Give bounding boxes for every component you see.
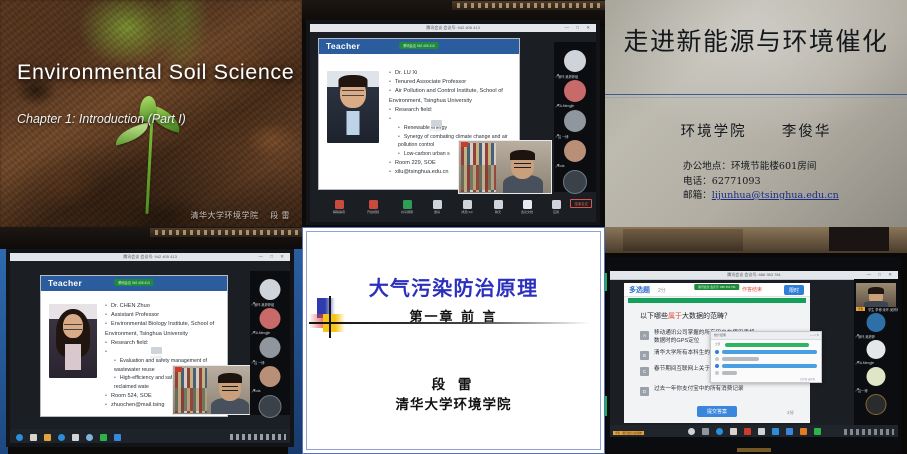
- participant-name: TA-Mengjie: [254, 331, 270, 335]
- list-item: Renewable energy: [398, 124, 515, 133]
- divider: [605, 94, 907, 95]
- avatar[interactable]: [260, 279, 281, 300]
- windows-taskbar[interactable]: 学生 - 腾讯会议(多媒体): [610, 425, 898, 437]
- author-org: 环境学院: [681, 124, 747, 140]
- background-object: [623, 229, 743, 251]
- edge-icon[interactable]: [716, 428, 723, 435]
- list-item: Air Pollution and Control Institute, Sch…: [389, 87, 515, 105]
- list-item: Research field:: [105, 339, 223, 348]
- panel-teacher-chen-zhuo-meeting: 腾讯会议 会议号: 942 405 413 — □ ✕ Teacher 腾讯会议…: [0, 227, 302, 454]
- monitor-bezel: 腾讯会议 会议号: 942 405 413 — □ ✕ Teacher 腾讯会议…: [6, 249, 294, 447]
- panel-new-energy-slide: 走进新能源与环境催化 环境学院 李俊华 办公地点：环境节能楼601房间 电话：6…: [605, 0, 907, 227]
- deco-vertical-line: [329, 296, 331, 338]
- question-highlight: 属于: [668, 313, 682, 320]
- participant-name: 学生 李博 深环-吴婷婷组: [868, 307, 898, 312]
- participant-name: TA-Mengjie: [858, 361, 874, 365]
- participant-list[interactable]: 学生 学生 李博 深环-吴婷婷组 🎤 深环-吴婷婷 🎤 TA-Mengjie 🎤…: [854, 279, 898, 427]
- divider-secondary: [605, 97, 907, 98]
- window-title: 腾讯会议 会议号: 942 405 413: [123, 253, 177, 261]
- system-tray[interactable]: [230, 434, 286, 440]
- office-icon[interactable]: [800, 428, 807, 435]
- toolbar-item-share[interactable]: 共享屏幕: [394, 200, 420, 214]
- quiz-timer-button[interactable]: 限时: [784, 285, 804, 295]
- browser-icon[interactable]: [772, 428, 779, 435]
- window-controls[interactable]: — □ ✕: [259, 254, 288, 260]
- start-icon[interactable]: [688, 428, 695, 435]
- phone-line: 电话：62771093: [683, 175, 839, 190]
- footer-author: 段 雷: [270, 211, 290, 220]
- toolbar-label: 解除静音: [333, 210, 345, 214]
- email-link[interactable]: lijunhua@tsinghua.edu.cn: [712, 190, 839, 201]
- toolbar-label: 邀请: [434, 210, 440, 214]
- camera-muted-icon: [369, 200, 378, 209]
- participant-list[interactable]: 🎤 深环-吴婷婷组 🎤 TA-Mengjie 🎤 吕 一博 🎤 Eula: [554, 42, 596, 192]
- participant-name: 深环-吴婷婷组: [254, 302, 274, 307]
- deck-header-title: Teacher: [48, 278, 82, 288]
- slide-inner-border: [306, 231, 601, 450]
- quiz-stop-label[interactable]: 作答结束: [742, 286, 762, 293]
- windows-taskbar[interactable]: [10, 429, 290, 443]
- self-video-tile[interactable]: [458, 140, 552, 194]
- popup-row-label: 全部: [715, 342, 720, 346]
- popup-window-controls[interactable]: — □ ✕: [810, 332, 819, 339]
- phone-value: 62771093: [712, 176, 761, 187]
- slide-title: 走进新能源与环境催化: [605, 22, 907, 58]
- invite-icon: [433, 200, 442, 209]
- glasses-icon: [64, 324, 82, 330]
- toolbar-item-documents[interactable]: 会议文档: [514, 200, 540, 214]
- avatar[interactable]: [260, 337, 281, 358]
- participant-name: 吕一博: [858, 388, 868, 393]
- participant-name: 吕 一博: [254, 360, 264, 365]
- system-tray[interactable]: [844, 429, 894, 435]
- taskbar-meeting-label[interactable]: 学生 - 腾讯会议(多媒体): [613, 431, 644, 435]
- bookshelf-background-2: [461, 165, 496, 190]
- toolbar-item-apps[interactable]: 应用: [544, 200, 568, 214]
- slide-title: Environmental Soil Science: [17, 60, 294, 85]
- quiz-points: 2分: [658, 287, 666, 294]
- slide-author: 段 雷: [303, 373, 604, 393]
- red-book: [175, 367, 182, 372]
- popup-title: 统计结果: [714, 332, 726, 339]
- monitor-bezel: 腾讯会议 会议号: 886 353 781 — □ ✕ 多选题 2分 作答结束 …: [607, 257, 901, 453]
- popup-dot-d[interactable]: [715, 371, 719, 375]
- toolbar-item-participants[interactable]: 成员(14): [454, 200, 480, 214]
- slide-org: 清华大学环境学院: [303, 393, 604, 413]
- folder-icon[interactable]: [730, 428, 737, 435]
- avatar[interactable]: [866, 394, 887, 415]
- document-icon: [523, 200, 532, 209]
- toolbar-label: 应用: [553, 210, 559, 214]
- participant-list[interactable]: 🎤 深环-吴婷婷组 🎤 TA-Mengjie 🎤 吕 一博 🎤 Eula: [250, 271, 290, 415]
- slide-footer: 清华大学环境学院 段 雷: [182, 210, 290, 221]
- search-icon[interactable]: [702, 428, 709, 435]
- headshot-shirt: [347, 111, 360, 135]
- popup-bar-all: [725, 343, 809, 347]
- screen: 腾讯会议 会议号: 942 405 413 — □ ✕ Teacher 腾讯会议…: [10, 253, 290, 443]
- bookshelf-background-2: [175, 388, 207, 411]
- meeting-toolbar[interactable]: 解除静音 开启视频 共享屏幕 邀请: [310, 196, 596, 222]
- apps-icon: [552, 200, 561, 209]
- share-screen-icon: [403, 200, 412, 209]
- toolbar-item-chat[interactable]: 聊天: [486, 200, 510, 214]
- meeting-icon[interactable]: [114, 434, 121, 441]
- participant-name: Eula: [254, 389, 260, 393]
- toolbar-item-video[interactable]: 开启视频: [360, 200, 386, 214]
- share-screen-label: 共享屏幕: [150, 355, 162, 359]
- background-dark-area: [829, 227, 889, 251]
- headshot-blouse: [65, 344, 81, 370]
- self-glasses-icon: [222, 386, 238, 391]
- decorative-squares: [309, 296, 353, 338]
- meeting-id-chip: 腾讯会议 会议号: 886 353 781: [694, 284, 739, 290]
- option-key: D: [640, 387, 649, 396]
- option-text: 过去一年你支付宝中的所有消费记录: [654, 386, 744, 394]
- panel-air-pollution-slide: 大气污染防治原理 第一章 前 言 段 雷 清华大学环境学院: [302, 227, 605, 454]
- popup-dot-b[interactable]: [715, 357, 719, 361]
- speaker-role-badge: 学生: [856, 307, 865, 311]
- mail-icon[interactable]: [744, 428, 751, 435]
- quiz-question: 以下哪些属于大数据的范畴？: [640, 311, 731, 321]
- cloud-icon[interactable]: [86, 434, 93, 441]
- window-controls[interactable]: — □ ✕: [867, 272, 896, 278]
- option-key: A: [640, 331, 649, 340]
- screen: 腾讯会议 会议号: 942 405 413 — □ ✕ Teacher 腾讯会议…: [310, 24, 596, 222]
- popup-bar-b: [722, 357, 759, 361]
- meeting-id-chip: 腾讯会议 942 405 413: [399, 42, 438, 49]
- avatar[interactable]: [867, 367, 886, 386]
- participant-name: TA-Mengjie: [558, 104, 574, 108]
- wechat-icon[interactable]: [100, 434, 107, 441]
- toolbar-label: 开启视频: [367, 210, 379, 214]
- self-hair: [218, 373, 242, 383]
- leave-meeting-button[interactable]: 结束会议: [570, 199, 592, 208]
- panel-quiz-meeting: 腾讯会议 会议号: 886 353 781 — □ ✕ 多选题 2分 作答结束 …: [605, 227, 907, 454]
- meeting-icon[interactable]: [786, 428, 793, 435]
- speaker-hair: [868, 287, 884, 294]
- panel-teacher-lu-xi-meeting: 腾讯会议 会议号: 942 405 413 — □ ✕ Teacher 腾讯会议…: [302, 0, 605, 227]
- phone-label: 电话：: [683, 176, 712, 187]
- toolbar-label: 会议文档: [521, 210, 533, 214]
- popup-dot-c[interactable]: [715, 364, 719, 368]
- toolbar-label: 成员(14): [461, 210, 472, 214]
- mail-icon[interactable]: [72, 434, 79, 441]
- avatar[interactable]: [564, 80, 586, 102]
- avatar[interactable]: [564, 110, 586, 132]
- participants-icon: [463, 200, 472, 209]
- browser-icon[interactable]: [58, 434, 65, 441]
- teacher-headshot: [327, 71, 379, 143]
- avatar[interactable]: [260, 366, 281, 387]
- option-key: B: [640, 351, 649, 360]
- popup-bar-a: [722, 350, 817, 354]
- toolbar-item-invite[interactable]: 邀请: [425, 200, 449, 214]
- share-screen-indicator: 共享屏幕: [150, 347, 162, 359]
- avatar[interactable]: [867, 340, 886, 359]
- email-line: 邮箱：lijunhua@tsinghua.edu.cn: [683, 189, 839, 204]
- wechat-icon[interactable]: [814, 428, 821, 435]
- quiz-statistics-popup[interactable]: 统计结果 — □ ✕ 全部 已作答 未作答: [710, 331, 822, 383]
- monitor-bezel: 腾讯会议 会议号: 942 405 413 — □ ✕ Teacher 腾讯会议…: [306, 20, 600, 225]
- popup-bar-d: [722, 371, 737, 375]
- deck-header-title: Teacher: [326, 41, 360, 51]
- office-label: 办公地点：: [683, 161, 731, 172]
- screenshot-collage: Environmental Soil Science Chapter 1: In…: [0, 0, 907, 454]
- participant-name: Eula: [558, 164, 564, 168]
- teacher-headshot: [49, 304, 97, 378]
- list-item: Dr. LU Xi: [389, 69, 515, 78]
- share-screen-indicator: 共享屏幕: [430, 120, 442, 132]
- share-screen-label: 共享屏幕: [430, 128, 442, 132]
- author-name: 李俊华: [782, 124, 832, 140]
- window-title: 腾讯会议 会议号: 886 353 781: [727, 271, 781, 279]
- avatar[interactable]: [563, 170, 587, 194]
- self-glasses-icon: [514, 163, 531, 168]
- self-hair: [510, 150, 535, 160]
- avatar[interactable]: [259, 395, 282, 418]
- popup-bar-c: [722, 364, 817, 368]
- glasses-icon: [342, 90, 364, 96]
- avatar[interactable]: [564, 140, 586, 162]
- edge-icon[interactable]: [16, 434, 23, 441]
- list-item: Assistant Professor: [105, 311, 223, 320]
- self-video-tile[interactable]: [172, 365, 258, 415]
- shelf-items: [457, 3, 602, 8]
- popup-dot-a[interactable]: [715, 350, 719, 354]
- chat-icon: [494, 200, 503, 209]
- popup-legend: 已作答 未作答: [800, 377, 815, 381]
- meeting-id-chip: 腾讯会议 942 405 413: [114, 279, 153, 286]
- participant-name: 深环-吴婷婷: [858, 334, 875, 339]
- list-item: Research field:: [389, 106, 515, 115]
- office-line: 办公地点：环境节能楼601房间: [683, 160, 839, 175]
- red-book: [461, 142, 468, 147]
- window-controls[interactable]: — □ ✕: [565, 25, 594, 31]
- screen: 腾讯会议 会议号: 886 353 781 — □ ✕ 多选题 2分 作答结束 …: [610, 271, 898, 437]
- share-screen-icon: [431, 120, 442, 127]
- slide-author: 环境学院 李俊华: [605, 120, 907, 141]
- participant-name: 深环-吴婷婷组: [558, 74, 578, 79]
- window-title: 腾讯会议 会议号: 942 405 413: [426, 24, 480, 32]
- microphone-muted-icon: [335, 200, 344, 209]
- quiz-submit-button[interactable]: 提交答案: [697, 406, 737, 417]
- briefcase-icon[interactable]: [30, 434, 37, 441]
- toolbar-item-unmute[interactable]: 解除静音: [326, 200, 352, 214]
- footer-org: 清华大学环境学院: [191, 211, 259, 220]
- active-speaker-tile[interactable]: [856, 283, 896, 307]
- quiz-progress-bar: [628, 298, 806, 303]
- monitor-stand-light: [737, 448, 771, 452]
- quiz-answered-count: 2分: [787, 410, 794, 416]
- headshot-hair: [339, 75, 368, 87]
- participant-name: 吕 一博: [558, 134, 568, 139]
- office-value: 环境节能楼601房间: [731, 161, 816, 172]
- list-item: Environmental Biology Institute, School …: [105, 320, 223, 338]
- share-screen-icon: [151, 347, 162, 354]
- folder-icon[interactable]: [44, 434, 51, 441]
- avatar[interactable]: [260, 308, 281, 329]
- avatar[interactable]: [564, 50, 586, 72]
- contact-block: 办公地点：环境节能楼601房间 电话：62771093 邮箱：lijunhua@…: [683, 160, 839, 204]
- photos-icon[interactable]: [758, 428, 765, 435]
- popup-title-bar: 统计结果 — □ ✕: [711, 332, 821, 340]
- toolbar-label: 共享屏幕: [401, 210, 413, 214]
- list-item: Tenured Associate Professor: [389, 78, 515, 87]
- shelf-items: [155, 230, 300, 235]
- quiz-type-tag: 多选题: [629, 285, 650, 295]
- avatar[interactable]: [867, 313, 886, 332]
- option-key: C: [640, 367, 649, 376]
- list-item: Dr. CHEN Zhuo: [105, 302, 223, 311]
- email-label: 邮箱：: [683, 190, 712, 201]
- panel-environmental-soil-science: Environmental Soil Science Chapter 1: In…: [0, 0, 302, 227]
- slide-subtitle: Chapter 1: Introduction (Part I): [17, 112, 186, 126]
- divider: [325, 322, 590, 324]
- toolbar-label: 聊天: [495, 210, 501, 214]
